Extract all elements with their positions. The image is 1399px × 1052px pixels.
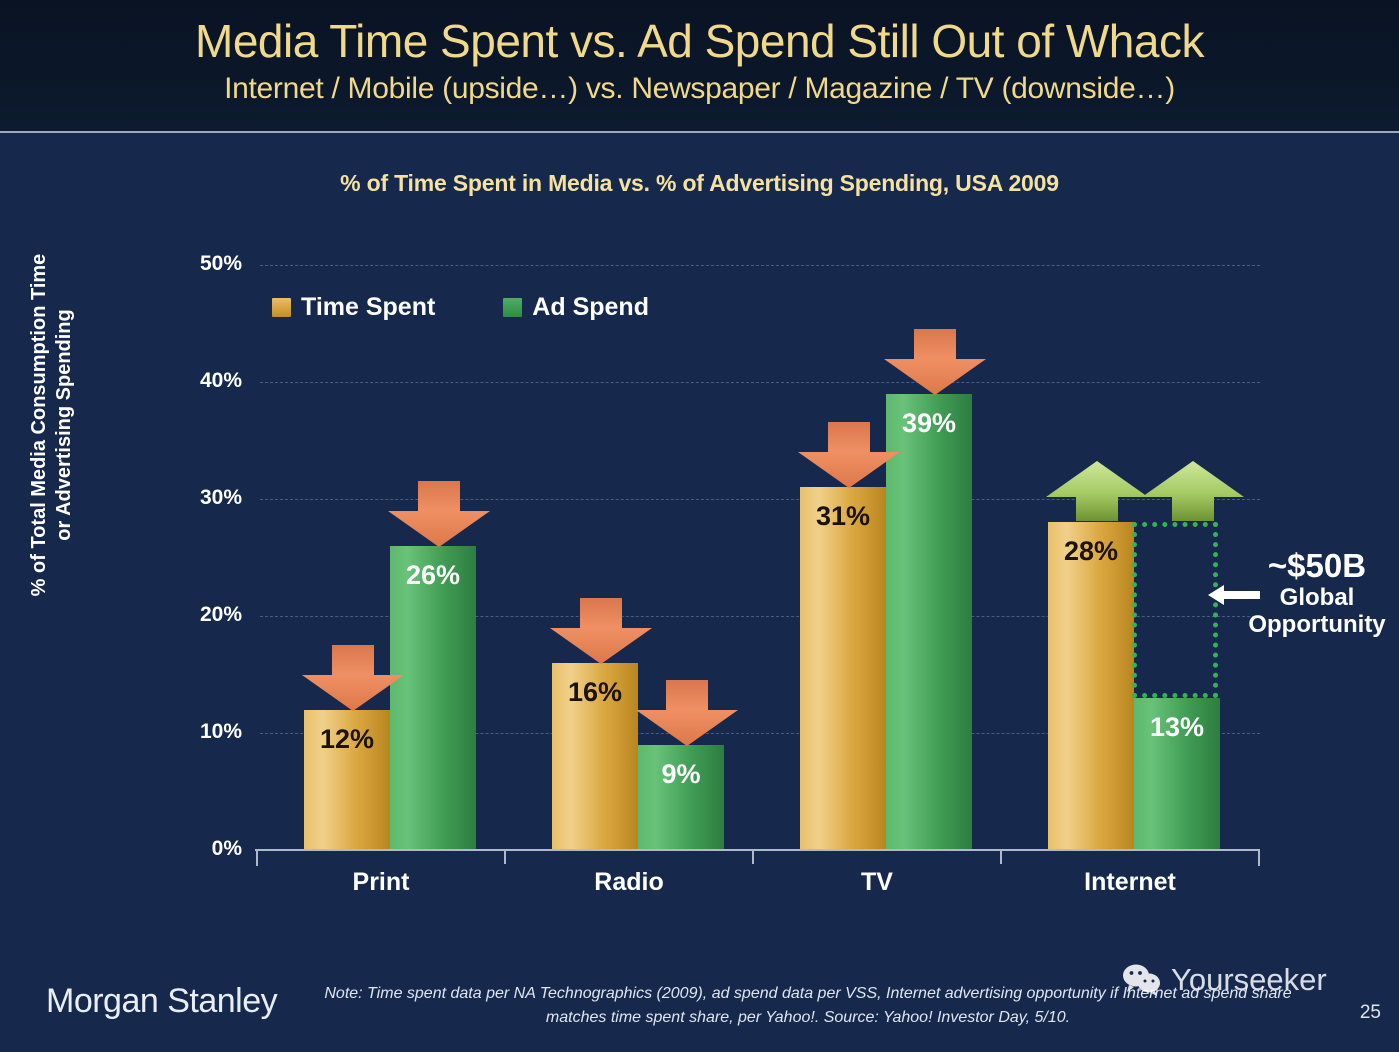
- x-label-tv: TV: [754, 868, 1000, 897]
- x-label-print: Print: [258, 868, 504, 897]
- plot-area: 12% 26% 16% 9% 31% 39% 28% 13%: [260, 265, 1260, 850]
- bar-radio-time-spent[interactable]: 16%: [552, 663, 638, 850]
- opportunity-amount: ~$50B: [1242, 548, 1392, 585]
- bar-internet-ad-spend[interactable]: 13%: [1134, 698, 1220, 850]
- x-tick-tv-internet: [1000, 851, 1002, 864]
- legend-swatch-time-spent-icon: [272, 298, 291, 317]
- legend-label-time-spent: Time Spent: [301, 293, 435, 322]
- opportunity-annotation: ~$50B Global Opportunity: [1242, 548, 1392, 639]
- y-axis-ticks: 50% 40% 30% 20% 10% 0%: [150, 0, 242, 1052]
- bar-label-radio-time-spent: 16%: [552, 677, 638, 708]
- morgan-stanley-logo: Morgan Stanley: [46, 982, 277, 1021]
- wechat-icon: [1122, 963, 1162, 997]
- down-arrow-print-ad-spend: [386, 481, 492, 549]
- bar-tv-time-spent[interactable]: 31%: [800, 487, 886, 850]
- legend-label-ad-spend: Ad Spend: [532, 293, 649, 322]
- legend-item-time-spent[interactable]: Time Spent: [272, 293, 435, 322]
- bar-label-internet-ad-spend: 13%: [1134, 712, 1220, 743]
- down-arrow-tv-time-spent: [796, 422, 902, 490]
- bar-internet-time-spent[interactable]: 28%: [1048, 522, 1134, 850]
- bar-print-time-spent[interactable]: 12%: [304, 710, 390, 850]
- opportunity-line-2: Global: [1280, 584, 1355, 611]
- opportunity-box: [1132, 522, 1218, 698]
- x-tick-right-edge: [1258, 851, 1260, 866]
- down-arrow-radio-time-spent: [548, 598, 654, 666]
- down-arrow-print-time-spent: [300, 645, 406, 713]
- y-axis-title: % of Total Media Consumption Time or Adv…: [27, 195, 77, 655]
- y-tick-10: 10%: [200, 720, 242, 744]
- chart-legend: Time Spent Ad Spend: [272, 293, 649, 322]
- bar-label-tv-time-spent: 31%: [800, 501, 886, 532]
- up-arrow-internet-ad-spend: [1140, 460, 1246, 522]
- y-tick-40: 40%: [200, 369, 242, 393]
- x-tick-print-radio: [504, 851, 506, 864]
- x-label-radio: Radio: [506, 868, 752, 897]
- page-number: 25: [1360, 1002, 1381, 1024]
- x-tick-radio-tv: [752, 851, 754, 864]
- watermark: Yourseeker: [1122, 962, 1327, 998]
- x-axis-line: [255, 849, 1260, 851]
- y-tick-30: 30%: [200, 486, 242, 510]
- y-tick-0: 0%: [212, 837, 242, 861]
- legend-swatch-ad-spend-icon: [503, 298, 522, 317]
- down-arrow-radio-ad-spend: [634, 680, 740, 748]
- x-label-internet: Internet: [1002, 868, 1258, 897]
- bar-label-print-time-spent: 12%: [304, 724, 390, 755]
- bar-radio-ad-spend[interactable]: 9%: [638, 745, 724, 850]
- up-arrow-internet-time-spent: [1044, 460, 1150, 522]
- bar-label-print-ad-spend: 26%: [390, 560, 476, 591]
- down-arrow-tv-ad-spend: [882, 329, 988, 397]
- y-tick-20: 20%: [200, 603, 242, 627]
- opportunity-line-3: Opportunity: [1248, 611, 1385, 638]
- legend-item-ad-spend[interactable]: Ad Spend: [503, 293, 649, 322]
- watermark-text: Yourseeker: [1171, 962, 1327, 998]
- x-tick-left-edge: [256, 851, 258, 866]
- bar-group-radio: 16% 9%: [552, 265, 724, 850]
- bar-label-radio-ad-spend: 9%: [638, 759, 724, 790]
- bar-label-internet-time-spent: 28%: [1048, 536, 1134, 567]
- bar-group-print: 12% 26%: [304, 265, 476, 850]
- y-tick-50: 50%: [200, 252, 242, 276]
